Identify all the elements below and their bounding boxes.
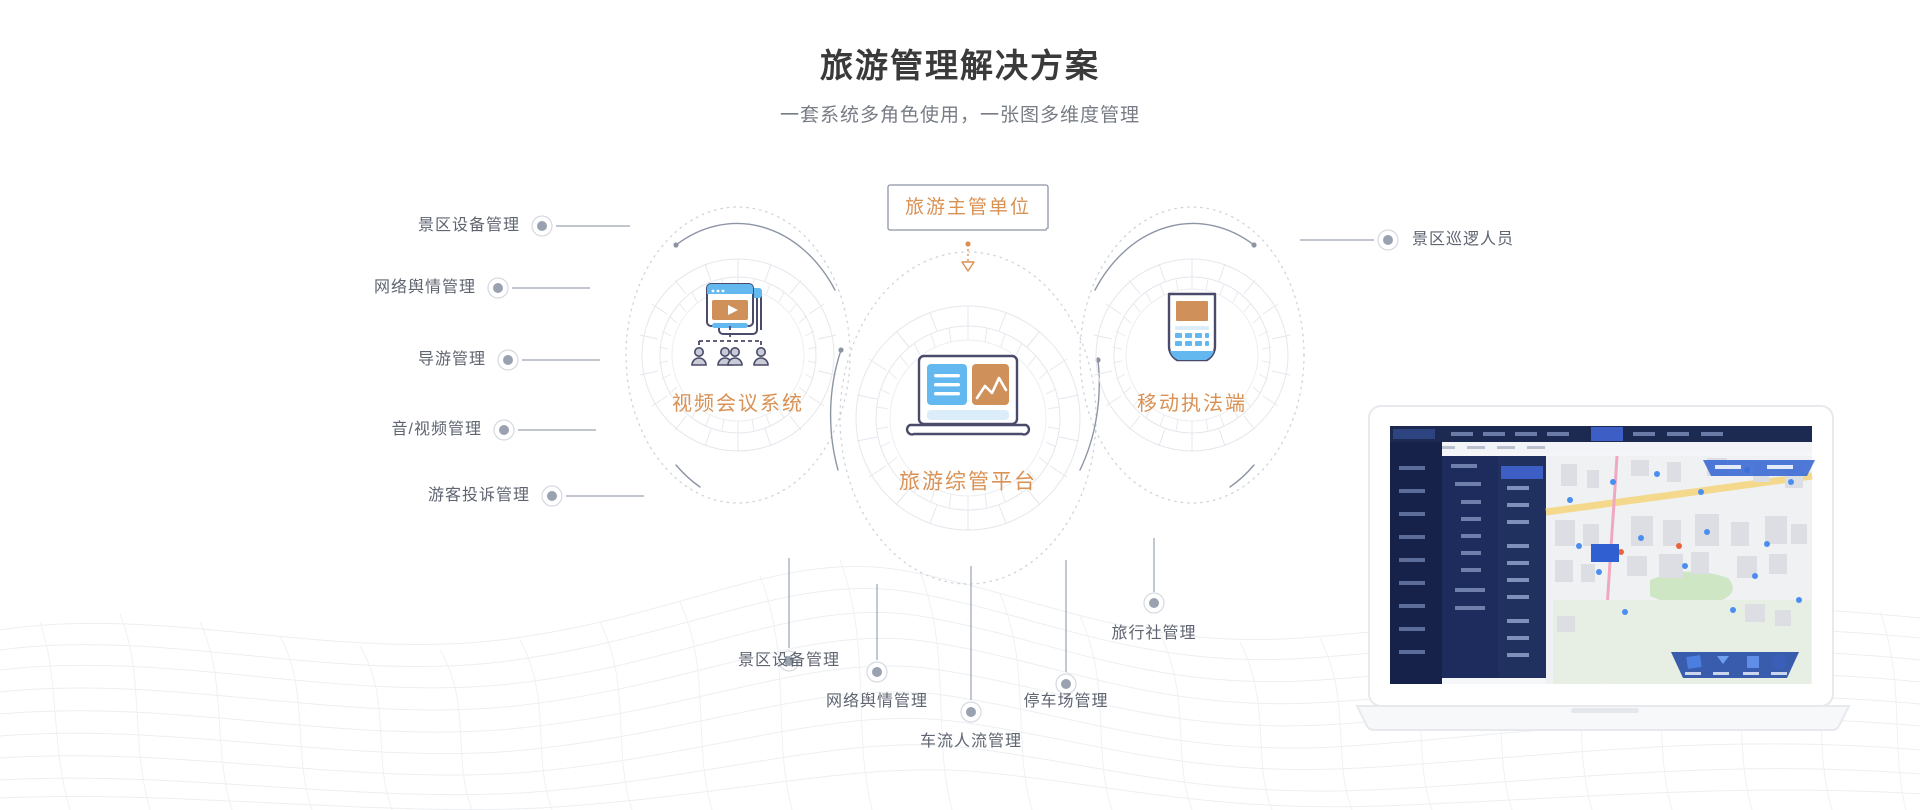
center-badge-label: 旅游主管单位 (885, 185, 1051, 229)
dashboard-nav-active (1591, 427, 1623, 441)
left-label-network-opinion[interactable]: 网络舆情管理 (374, 280, 476, 296)
bottom-label-travel-agency[interactable]: 旅行社管理 (1111, 626, 1196, 642)
dashboard-logo (1393, 429, 1435, 439)
ring-mobile-enforcement (1080, 207, 1304, 503)
map-info-tooltip (1591, 544, 1619, 562)
bottom-label-network-opinion[interactable]: 网络舆情管理 (826, 694, 928, 710)
ring-video-top-arc (676, 223, 835, 290)
left-label-av-management[interactable]: 音/视频管理 (392, 422, 482, 438)
left-connectors (512, 226, 644, 496)
bottom-label-scenic-equipment[interactable]: 景区设备管理 (738, 653, 840, 669)
left-label-guide-management[interactable]: 导游管理 (418, 352, 486, 368)
bottom-label-parking[interactable]: 停车场管理 (1023, 694, 1108, 710)
ring-title-tourism-platform: 旅游综管平台 (899, 472, 1037, 493)
laptop-trackpad-notch (1571, 708, 1639, 713)
video-conference-icon (692, 284, 768, 365)
dashboard-sidebar (1390, 442, 1442, 684)
ring-video-conference (626, 207, 850, 503)
left-label-scenic-equipment[interactable]: 景区设备管理 (418, 218, 520, 234)
ring-video-top-arc-dot (673, 242, 678, 247)
bottom-connectors (789, 538, 1154, 700)
mobile-enforcement-icon (1169, 294, 1215, 360)
ring-tourism-platform (831, 252, 1101, 584)
page-root: 旅游管理解决方案 一套系统多角色使用，一张图多维度管理 (0, 0, 1920, 810)
right-label-scenic-patrol[interactable]: 景区巡逻人员 (1412, 232, 1514, 248)
ring-platform-left-arc (831, 350, 841, 470)
ring-mobile-bottom-arc (1230, 465, 1254, 487)
left-connector-dots (488, 216, 562, 506)
ring-title-video-conference: 视频会议系统 (672, 394, 804, 414)
dashboard-layer-active (1501, 466, 1543, 479)
right-connectors (1300, 230, 1398, 250)
dashboard-tree-panel (1442, 456, 1498, 678)
ring-platform-right-arc (1080, 360, 1099, 470)
laptop-mockup (1355, 404, 1855, 764)
laptop-dashboard-icon (907, 356, 1029, 434)
ring-mobile-top-arc (1095, 223, 1254, 290)
ring-platform-left-arc-dot (838, 347, 843, 352)
ring-video-bottom-arc (676, 465, 700, 487)
center-badge[interactable]: 旅游主管单位 (885, 185, 1051, 229)
bottom-label-traffic-flow[interactable]: 车流人流管理 (920, 734, 1022, 750)
ring-title-mobile-enforcement: 移动执法端 (1137, 394, 1247, 414)
left-label-tourist-complaint[interactable]: 游客投诉管理 (428, 488, 530, 504)
dashboard-screenshot (1390, 426, 1815, 684)
badge-connector-arrow (962, 241, 974, 271)
ring-mobile-top-arc-dot (1251, 242, 1256, 247)
